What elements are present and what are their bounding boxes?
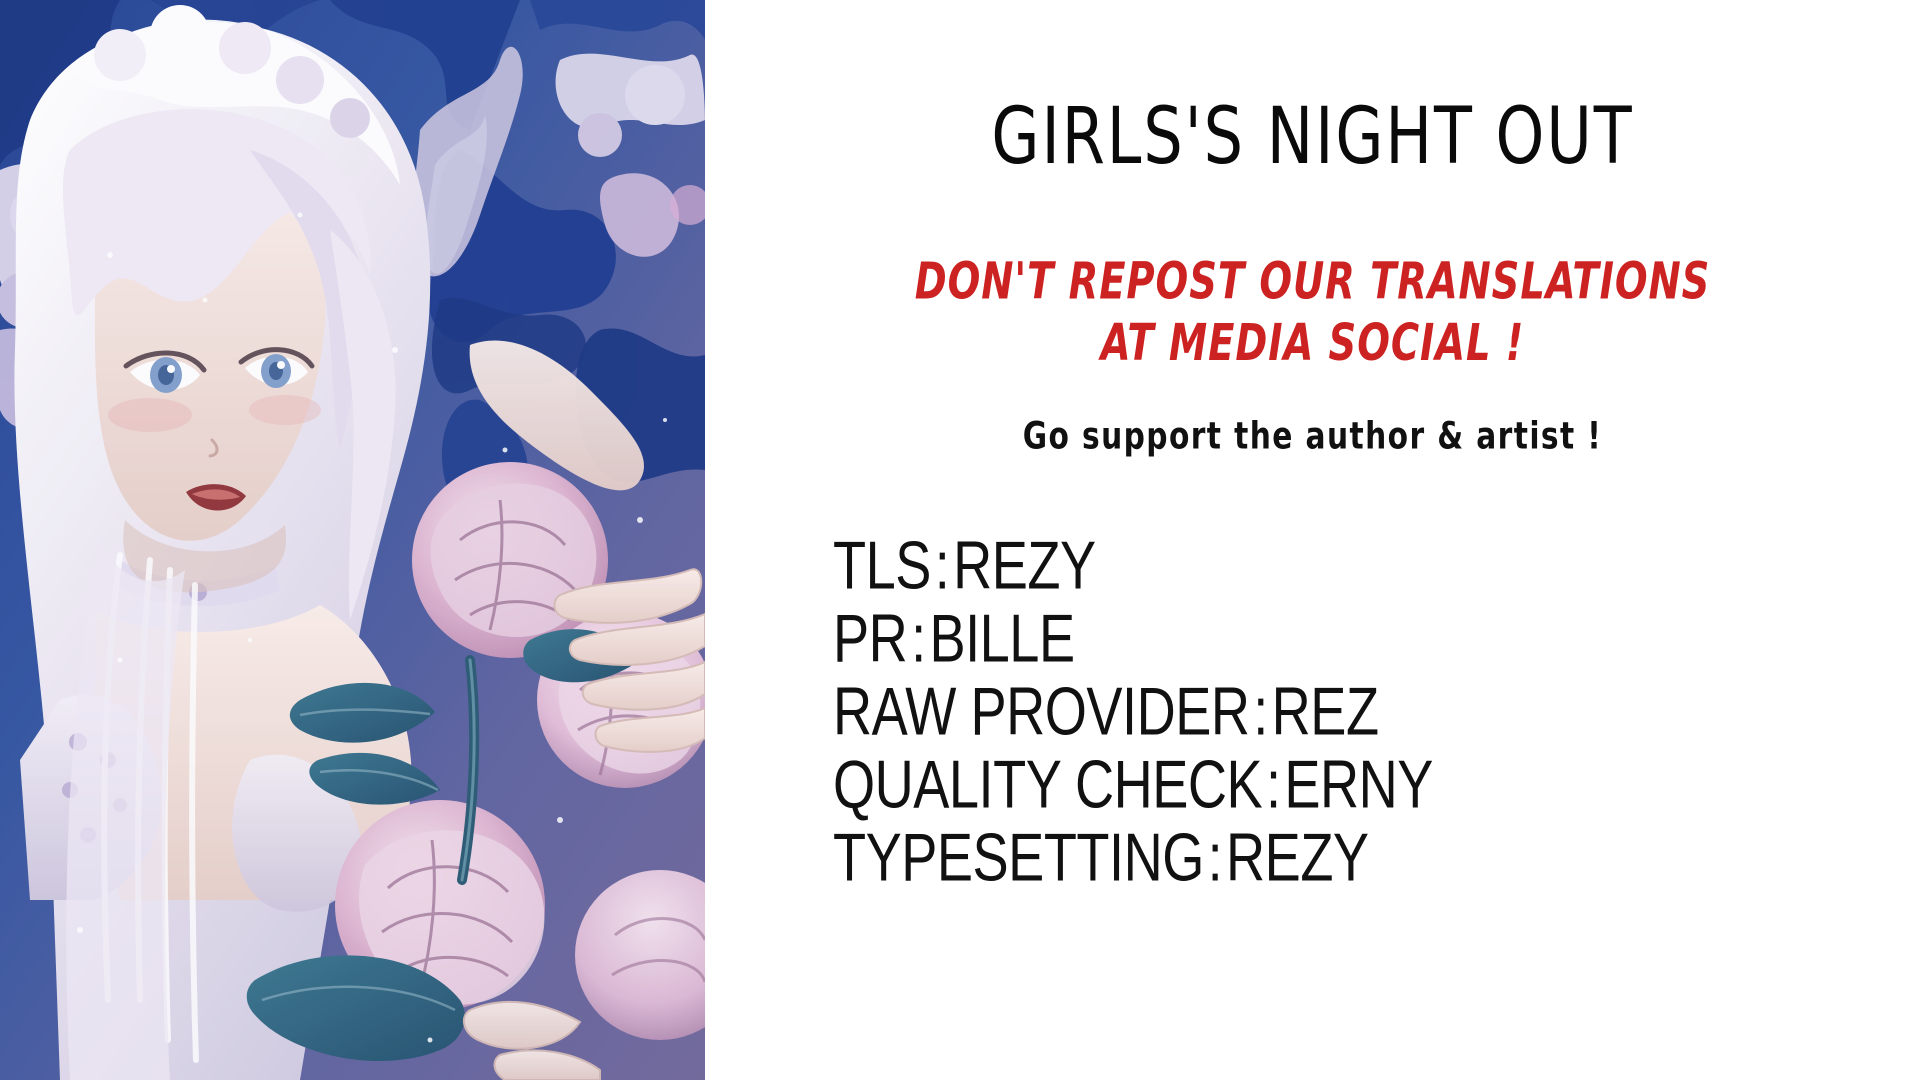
credit-role: TYPESETTING — [833, 820, 1204, 896]
credit-name: ERNY — [1284, 747, 1433, 823]
credit-name: REZY — [953, 528, 1096, 604]
credit-role: RAW PROVIDER — [833, 674, 1250, 750]
support-author-note: Go support the author & artist ! — [705, 414, 1920, 458]
credit-role: QUALITY CHECK — [833, 747, 1262, 823]
credit-separator: : — [1208, 820, 1223, 896]
credit-role: TLS — [833, 528, 931, 604]
credit-role: PR — [833, 601, 907, 677]
credit-row-tls: TLS:REZY — [833, 533, 1783, 600]
credit-row-raw-provider: RAW PROVIDER:REZ — [833, 679, 1783, 746]
credits-page: GIRLS'S NIGHT OUT DON'T REPOST OUR TRANS… — [0, 0, 1920, 1080]
page-title: GIRLS'S NIGHT OUT — [723, 92, 1902, 182]
illustration-panel — [0, 0, 705, 1080]
credit-separator: : — [1253, 674, 1268, 750]
credit-row-quality-check: QUALITY CHECK:ERNY — [833, 752, 1783, 819]
credit-name: REZY — [1226, 820, 1369, 896]
credit-name: BILLE — [929, 601, 1074, 677]
credit-separator: : — [911, 601, 926, 677]
credit-name: REZ — [1272, 674, 1379, 750]
warning-line-1: DON'T REPOST OUR TRANSLATIONS — [748, 250, 1878, 312]
credit-separator: : — [1266, 747, 1281, 823]
credits-text-panel: GIRLS'S NIGHT OUT DON'T REPOST OUR TRANS… — [705, 0, 1920, 1080]
warning-line-2: AT MEDIA SOCIAL ! — [748, 312, 1878, 374]
repost-warning: DON'T REPOST OUR TRANSLATIONS AT MEDIA S… — [748, 250, 1878, 373]
anime-illustration — [0, 0, 705, 1080]
credit-separator: : — [935, 528, 950, 604]
credit-row-typesetting: TYPESETTING:REZY — [833, 825, 1783, 892]
credits-list: TLS:REZY PR:BILLE RAW PROVIDER:REZ QUALI… — [833, 533, 1833, 898]
credit-row-pr: PR:BILLE — [833, 606, 1783, 673]
